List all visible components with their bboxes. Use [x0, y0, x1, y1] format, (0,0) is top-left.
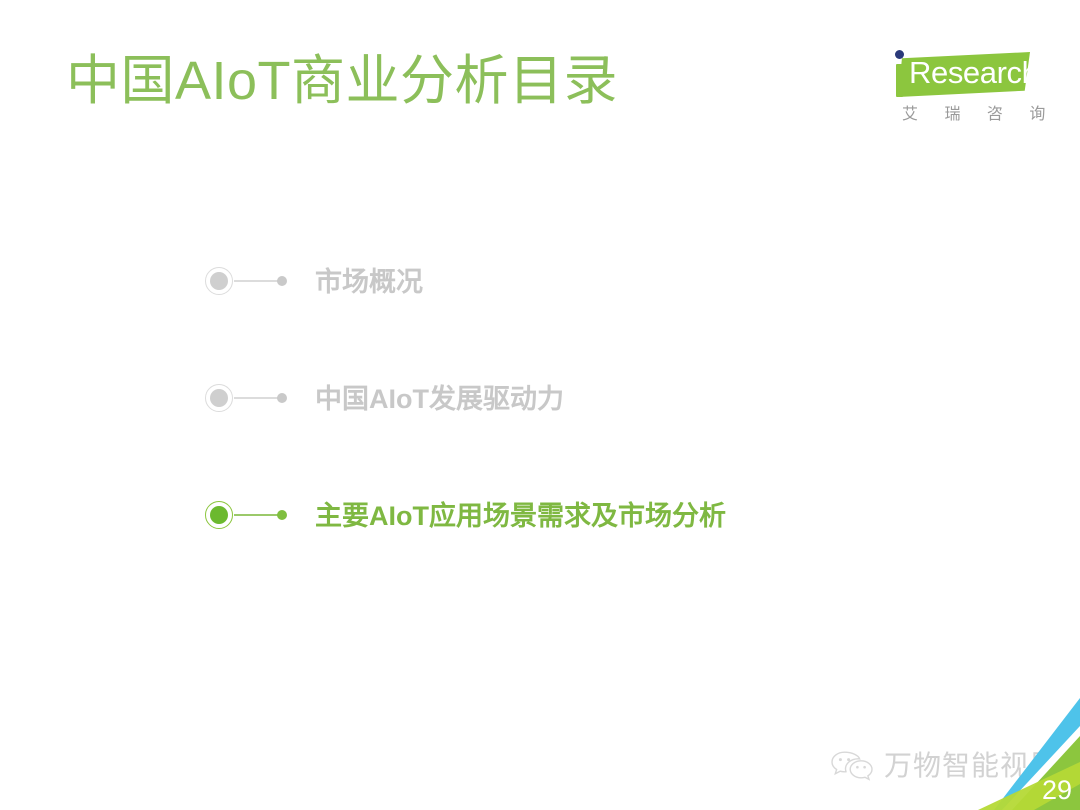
marker-end-dot-icon — [277, 510, 287, 520]
slide-root: 中国AIoT商业分析目录 Research 艾 瑞 咨 询 市场概况 — [0, 0, 1080, 810]
marker-connector-line — [234, 514, 282, 516]
toc-marker-icon — [205, 383, 297, 415]
page-title: 中国AIoT商业分析目录 — [66, 48, 618, 114]
toc-marker-icon — [205, 266, 297, 298]
toc-item-2[interactable]: 中国AIoT发展驱动力 — [205, 375, 564, 423]
toc-marker-icon — [205, 500, 297, 532]
toc-item-3-active[interactable]: 主要AIoT应用场景需求及市场分析 — [205, 492, 726, 540]
marker-end-dot-icon — [277, 393, 287, 403]
iresearch-logo: Research 艾 瑞 咨 询 — [880, 46, 1030, 138]
toc-item-label: 中国AIoT发展驱动力 — [315, 382, 564, 416]
logo-i-stem-icon — [896, 64, 903, 97]
marker-dot-icon — [210, 389, 228, 407]
logo-i-dot-icon — [895, 50, 904, 59]
marker-connector-line — [234, 397, 282, 399]
logo-subtitle: 艾 瑞 咨 询 — [902, 104, 1056, 126]
footer-brand: 万物智能视界 — [828, 744, 1058, 788]
wechat-icon — [828, 748, 876, 784]
toc-item-label: 市场概况 — [315, 265, 423, 299]
logo-wordmark: Research — [909, 55, 1038, 91]
marker-dot-icon — [210, 272, 228, 290]
marker-connector-line — [234, 280, 282, 282]
iresearch-logo-mark: Research — [880, 46, 1030, 102]
marker-dot-icon — [210, 506, 228, 524]
toc-item-label: 主要AIoT应用场景需求及市场分析 — [315, 499, 726, 533]
marker-end-dot-icon — [277, 276, 287, 286]
toc-item-1[interactable]: 市场概况 — [205, 258, 423, 306]
footer-brand-label: 万物智能视界 — [884, 748, 1058, 784]
